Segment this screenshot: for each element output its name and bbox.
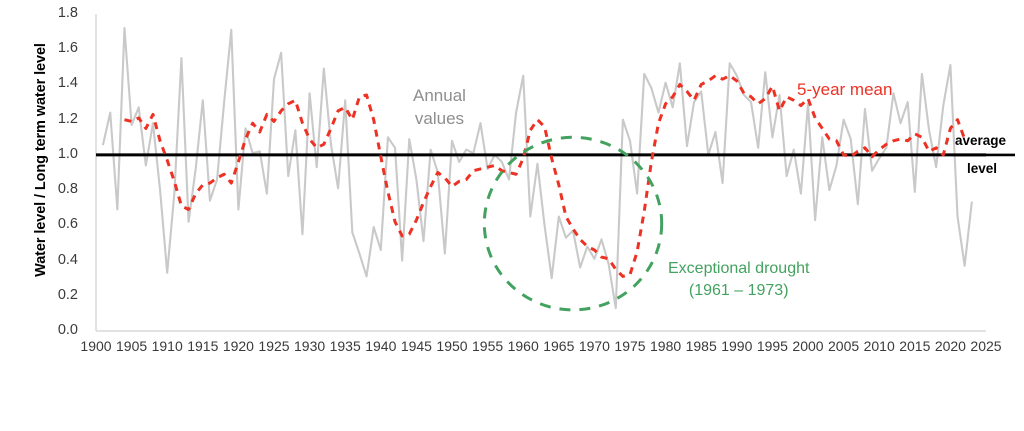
annual-values-line (103, 28, 972, 308)
average-level-label-line2: level (967, 161, 997, 176)
five-year-mean-line (124, 76, 964, 277)
annual-values-label: Annual values (413, 85, 466, 131)
annual-values-label-line1: Annual (413, 85, 466, 108)
drought-label: Exceptional drought (1961 – 1973) (668, 258, 809, 303)
water-level-chart: Water level / Long term water level 0.00… (0, 0, 1024, 431)
average-level-label-line1: average (955, 133, 1006, 148)
drought-label-line2: (1961 – 1973) (668, 280, 809, 302)
drought-label-line1: Exceptional drought (668, 258, 809, 280)
drought-ellipse-icon (484, 137, 661, 310)
plot-area (0, 0, 1024, 431)
five-year-mean-label: 5-year mean (797, 80, 892, 100)
annual-values-label-line2: values (413, 108, 466, 131)
